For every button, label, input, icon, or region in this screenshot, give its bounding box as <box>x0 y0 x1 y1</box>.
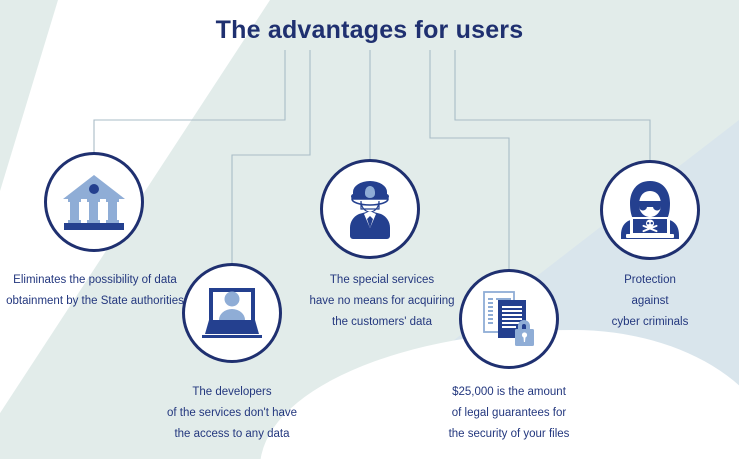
bank-building-icon <box>61 173 127 231</box>
hacker-hoodie-icon <box>618 179 682 241</box>
infographic-canvas: The advantages for users <box>0 0 739 459</box>
documents-lock-icon <box>478 288 540 350</box>
page-title: The advantages for users <box>0 16 739 45</box>
laptop-user-icon <box>199 284 265 342</box>
caption-legal-guarantees: $25,000 is the amount of legal guarantee… <box>399 382 619 445</box>
icon-circle-cyber-criminals[interactable] <box>600 160 700 260</box>
icon-circle-state-authorities[interactable] <box>44 152 144 252</box>
police-officer-icon <box>339 178 401 240</box>
icon-circle-developers[interactable] <box>182 263 282 363</box>
caption-developers: The developers of the services don't hav… <box>122 382 342 445</box>
caption-state-authorities: Eliminates the possibility of data obtai… <box>0 270 205 312</box>
icon-circle-special-services[interactable] <box>320 159 420 259</box>
caption-cyber-criminals: Protection against cyber criminals <box>540 270 739 333</box>
